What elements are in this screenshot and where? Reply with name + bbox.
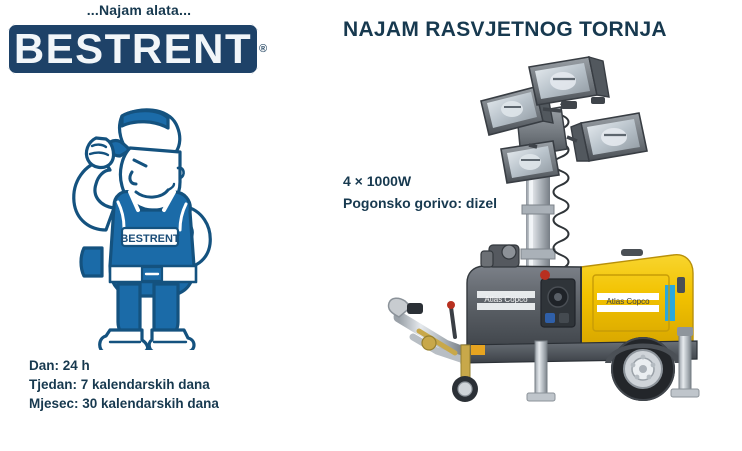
logo-wordmark: BESTRENT bbox=[6, 22, 260, 76]
floodlight-4 bbox=[501, 141, 559, 183]
handbrake-lever bbox=[451, 307, 455, 337]
canopy-handle bbox=[621, 249, 643, 256]
rental-term-week: Tjedan: 7 kalendarskih dana bbox=[29, 375, 219, 394]
svg-text:BESTRENT: BESTRENT bbox=[120, 233, 180, 245]
svg-text:Atlas Copco: Atlas Copco bbox=[484, 295, 528, 304]
rental-terms: Dan: 24 h Tjedan: 7 kalendarskih dana Mj… bbox=[29, 356, 219, 413]
rental-term-day: Dan: 24 h bbox=[29, 356, 219, 375]
generator-canopy: Atlas Copco Atlas Copco bbox=[467, 245, 693, 345]
control-panel bbox=[540, 270, 575, 327]
tow-bar-assembly bbox=[388, 298, 478, 402]
bestrent-logo: BESTRENT ® bbox=[6, 22, 268, 78]
svg-text:Atlas Copco: Atlas Copco bbox=[606, 297, 650, 306]
registered-trademark-icon: ® bbox=[259, 43, 267, 55]
brand-tagline: ...Najam alata... bbox=[0, 2, 278, 18]
mascot-chest-badge: BESTRENT bbox=[120, 228, 180, 246]
mascot-boot-left bbox=[100, 330, 148, 350]
light-tower-product-image: Atlas Copco Atlas Copco bbox=[385, 45, 720, 405]
mascot-flexed-arm bbox=[74, 160, 114, 230]
exhaust-assembly bbox=[481, 245, 519, 267]
mascot-worker-illustration: BESTRENT bbox=[18, 98, 246, 350]
floodlight-cluster bbox=[481, 57, 647, 183]
floodlight-3 bbox=[571, 113, 647, 161]
advertisement-canvas: ...Najam alata... BESTRENT ® bbox=[0, 0, 742, 451]
mascot-leg-left bbox=[118, 284, 140, 336]
brand-logo-left: Atlas Copco bbox=[477, 291, 535, 310]
mascot-leg-right bbox=[154, 284, 178, 336]
page-title: NAJAM RASVJETNOG TORNJA bbox=[343, 18, 667, 42]
rental-term-month: Mjesec: 30 kalendarskih dana bbox=[29, 394, 219, 413]
mascot-boot-right bbox=[149, 330, 194, 350]
door-latch bbox=[677, 277, 685, 293]
